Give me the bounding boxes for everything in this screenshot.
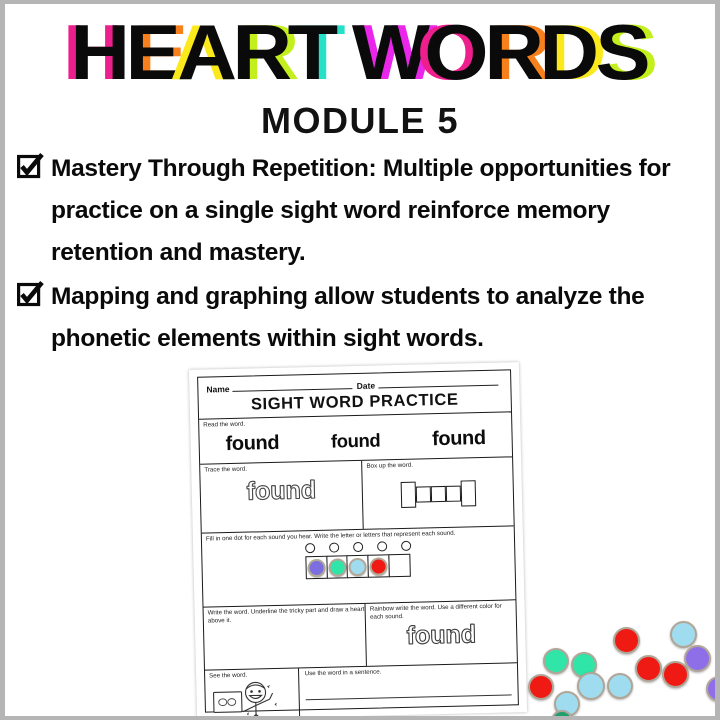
name-label: Name — [206, 384, 229, 395]
checkbox-checked-icon — [17, 281, 44, 308]
sound-chip — [307, 558, 325, 576]
sound-dot-icon — [353, 542, 363, 552]
sound-dot-icon — [329, 542, 339, 552]
write-the-word-section: Write the word. Underline the tricky par… — [204, 604, 368, 670]
feature-bullet-list: Mastery Through Repetition: Multiple opp… — [17, 148, 715, 362]
boxup-cell — [445, 486, 460, 502]
see-the-word-section: See the word. — [205, 668, 300, 716]
title-letter-face: R — [484, 8, 543, 96]
title-letter-r-7: RR — [484, 10, 543, 94]
use-in-sentence-section: Use the word in a sentence. — [299, 663, 519, 716]
chip-cell — [305, 556, 328, 580]
title-letter-d-8: DD — [540, 10, 599, 94]
date-line — [378, 377, 498, 389]
sound-chip — [370, 557, 388, 575]
boxup-cell — [400, 482, 416, 508]
read-word-3: found — [432, 426, 486, 450]
title-letter-face: D — [540, 8, 599, 96]
title-letter-face: S — [595, 8, 649, 96]
scattered-chip — [551, 710, 573, 716]
date-label: Date — [357, 381, 376, 391]
name-line — [232, 380, 352, 392]
title-letter-face: T — [288, 8, 337, 96]
scattered-chip — [662, 661, 689, 688]
title-letter-face: H — [70, 8, 129, 96]
child-reading-illustration — [211, 680, 296, 716]
checkbox-checked-icon — [17, 153, 44, 180]
scattered-chip — [613, 627, 640, 654]
list-item-label: Mastery Through Repetition: Multiple opp… — [51, 148, 715, 274]
scattered-chip — [571, 652, 597, 678]
trace-and-boxup-row: Trace the word. found Box up the word. — [200, 456, 514, 532]
sound-chip — [349, 557, 367, 575]
box-up-cells — [363, 472, 514, 516]
scattered-chip — [543, 648, 569, 674]
see-and-sentence-row: See the word. — [205, 662, 518, 716]
box-up-caption: Box up the word. — [362, 457, 512, 471]
product-preview-card: HHEEAARRTTWWOORRDDSS MODULE 5 Mastery Th… — [5, 4, 715, 716]
sound-dot-icon — [305, 543, 315, 553]
sound-chip — [328, 558, 346, 576]
scattered-chip — [554, 691, 580, 716]
rainbow-word-outline: found — [366, 619, 516, 652]
screenshot-frame: HHEEAARRTTWWOORRDDSS MODULE 5 Mastery Th… — [0, 0, 720, 720]
worksheet-frame: Name Date SIGHT WORD PRACTICE Read the w… — [197, 369, 519, 712]
chip-cell — [347, 555, 370, 579]
read-the-word-section: Read the word. found found found — [199, 411, 512, 463]
list-item-label: Mapping and graphing allow students to a… — [51, 276, 715, 360]
title-letter-face: O — [425, 8, 488, 96]
title-letter-s-9: SS — [595, 10, 649, 94]
worksheet-page: Name Date SIGHT WORD PRACTICE Read the w… — [189, 362, 527, 716]
chip-cell — [326, 555, 349, 579]
boxup-cell — [415, 486, 430, 502]
read-word-1: found — [225, 431, 279, 455]
write-the-word-caption: Write the word. Underline the tricky par… — [204, 604, 366, 626]
box-up-the-word-section: Box up the word. — [362, 457, 513, 529]
scattered-chip — [577, 672, 605, 700]
write-and-rainbow-row: Write the word. Underline the tricky par… — [204, 599, 517, 669]
trace-word-outline: found — [200, 475, 362, 508]
scattered-chip — [635, 655, 662, 682]
scattered-chip — [607, 673, 633, 699]
chip-cell — [368, 554, 391, 578]
title-letter-a-2: AA — [177, 10, 236, 94]
sentence-line — [305, 701, 512, 716]
read-word-2: found — [331, 429, 381, 452]
title-letter-r-3: RR — [232, 10, 291, 94]
list-item: Mastery Through Repetition: Multiple opp… — [17, 148, 715, 274]
title-letter-face: A — [177, 8, 236, 96]
module-subtitle: MODULE 5 — [5, 100, 715, 142]
trace-the-word-section: Trace the word. found — [200, 461, 364, 533]
sound-dot-icon — [377, 541, 387, 551]
sound-chip-row — [202, 551, 514, 581]
list-item: Mapping and graphing allow students to a… — [17, 276, 715, 360]
sound-dot-icon — [401, 541, 411, 551]
rainbow-write-section: Rainbow write the word. Use a different … — [366, 600, 517, 666]
worksheet-preview: Name Date SIGHT WORD PRACTICE Read the w… — [193, 366, 538, 716]
boxup-cell — [430, 486, 445, 502]
title-letter-t-4: TT — [288, 10, 337, 94]
sentence-line — [305, 679, 512, 700]
boxup-cell — [460, 480, 476, 506]
chip-cell-empty — [388, 554, 411, 578]
title-letter-h-0: HH — [70, 10, 129, 94]
scattered-chip — [670, 621, 697, 648]
title-letter-o-6: OO — [425, 10, 488, 94]
rainbow-write-caption: Rainbow write the word. Use a different … — [366, 600, 516, 622]
title-letter-face: R — [232, 8, 291, 96]
scattered-chip — [684, 645, 711, 672]
scattered-chip — [706, 676, 715, 702]
sound-mapping-section: Fill in one dot for each sound you hear.… — [202, 525, 516, 606]
page-title: HHEEAARRTTWWOORRDDSS — [5, 10, 715, 94]
